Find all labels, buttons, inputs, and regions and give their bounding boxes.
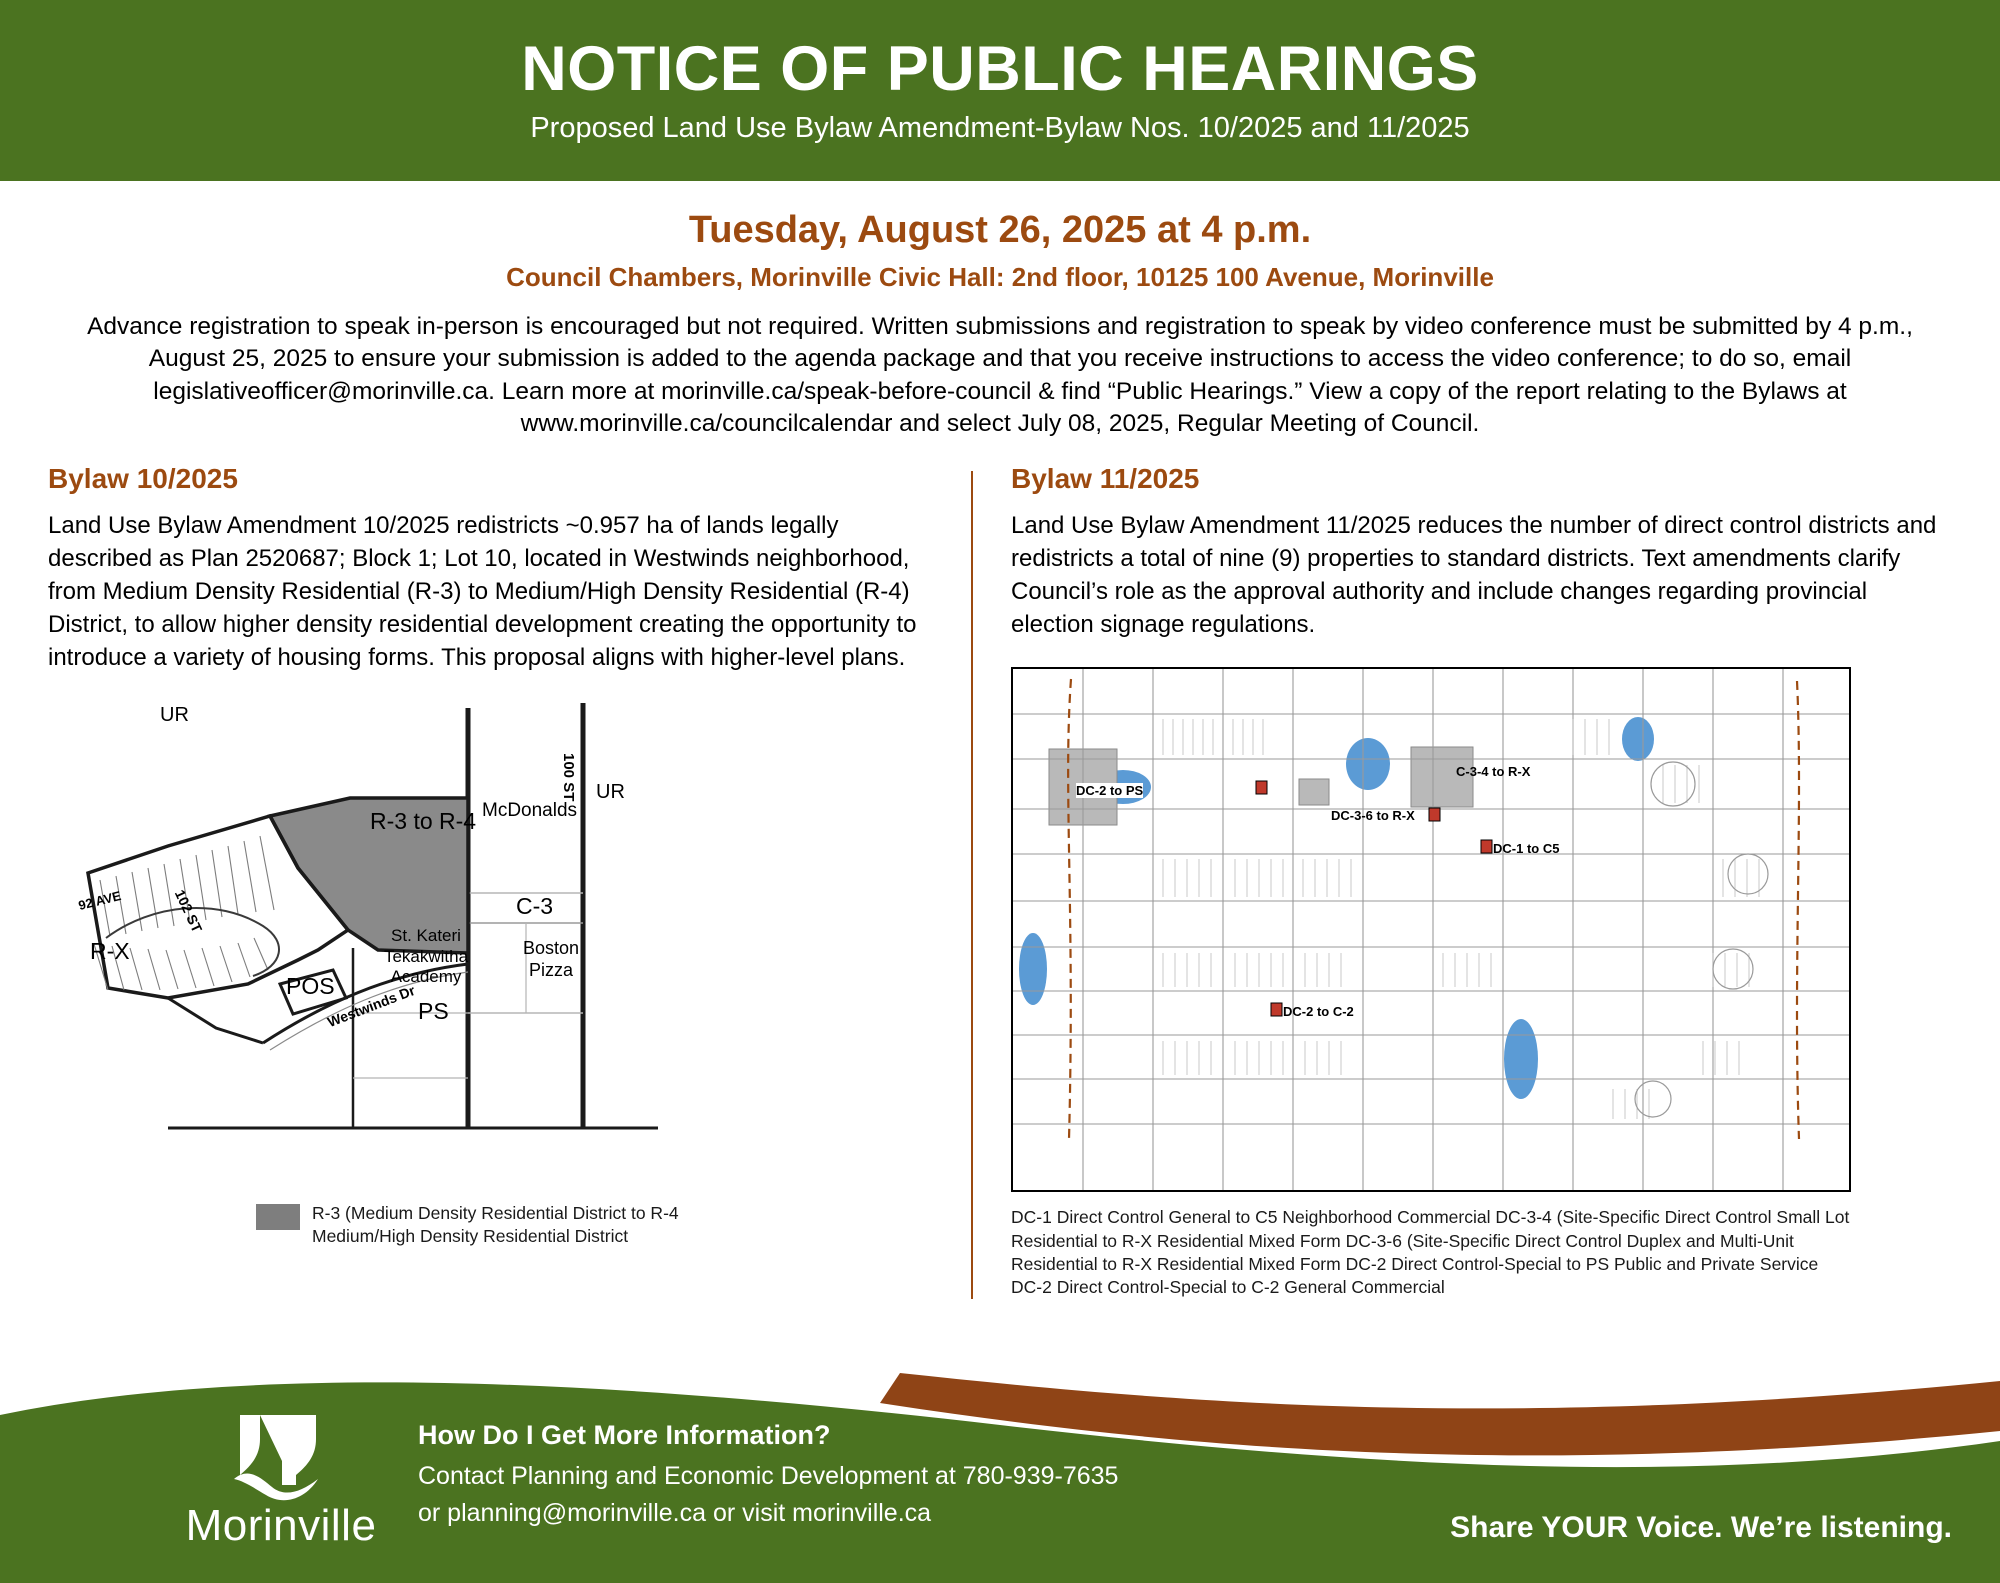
page-title: NOTICE OF PUBLIC HEARINGS: [521, 36, 1479, 102]
map-label-dc36-to-rx: DC-3-6 to R-X: [1331, 808, 1415, 823]
bylaw-11-map: DC-2 to PS C-3-4 to R-X DC-3-6 to R-X DC…: [1011, 667, 1851, 1192]
map-label-boston-pizza: BostonPizza: [516, 938, 586, 981]
meeting-instructions: Advance registration to speak in-person …: [48, 311, 1953, 441]
bylaw-10-map-svg: [48, 698, 928, 1198]
page-footer: Morinville How Do I Get More Information…: [0, 1373, 2000, 1583]
bylaw-10-map: UR UR R-3 to R-4 McDonalds C-3 BostonPiz…: [48, 698, 928, 1198]
bylaw-11-text: Land Use Bylaw Amendment 11/2025 reduces…: [1011, 509, 1956, 641]
morinville-logo-mark: [226, 1409, 336, 1505]
map-label-dc1-to-c5: DC-1 to C5: [1493, 841, 1559, 856]
map-label-subject: R-3 to R-4: [370, 808, 476, 835]
map-label-mcdonalds: McDonalds: [482, 800, 577, 822]
map-label-ur-right: UR: [596, 781, 625, 804]
map-label-ur-top: UR: [160, 704, 189, 727]
bylaw-10-legend: R-3 (Medium Density Residential District…: [256, 1202, 935, 1247]
bylaw-10-text: Land Use Bylaw Amendment 10/2025 redistr…: [48, 509, 935, 675]
column-divider: [971, 471, 973, 1300]
page-header: NOTICE OF PUBLIC HEARINGS Proposed Land …: [0, 0, 2000, 181]
bylaw-11-map-svg: [1013, 669, 1849, 1190]
map-label-100-st: 100 ST: [560, 753, 577, 801]
footer-contact-line-2: or planning@morinville.ca or visit morin…: [418, 1499, 1118, 1528]
morinville-logo-text: Morinville: [186, 1501, 377, 1551]
legend-label: R-3 (Medium Density Residential District…: [312, 1202, 782, 1247]
map-label-dc34-to-rx: C-3-4 to R-X: [1456, 764, 1530, 779]
map-label-ps: PS: [418, 998, 449, 1025]
meeting-location: Council Chambers, Morinville Civic Hall:…: [0, 263, 2000, 293]
page-subtitle: Proposed Land Use Bylaw Amendment-Bylaw …: [530, 113, 1469, 145]
meeting-date: Tuesday, August 26, 2025 at 4 p.m.: [0, 209, 2000, 253]
meeting-info: Tuesday, August 26, 2025 at 4 p.m. Counc…: [0, 181, 2000, 441]
bylaw-11-title: Bylaw 11/2025: [1011, 463, 1956, 495]
bylaw-10-column: Bylaw 10/2025 Land Use Bylaw Amendment 1…: [48, 463, 953, 1300]
bylaw-columns: Bylaw 10/2025 Land Use Bylaw Amendment 1…: [0, 463, 2000, 1300]
legend-swatch: [256, 1204, 300, 1230]
map-label-dc2-to-ps: DC-2 to PS: [1076, 783, 1143, 798]
bylaw-11-map-caption: DC-1 Direct Control General to C5 Neighb…: [1011, 1206, 1851, 1299]
map-label-c3: C-3: [516, 893, 553, 920]
bylaw-11-column: Bylaw 11/2025 Land Use Bylaw Amendment 1…: [1011, 463, 1956, 1300]
map-label-rx: R-X: [90, 938, 130, 965]
bylaw-10-title: Bylaw 10/2025: [48, 463, 935, 495]
bylaw-11-map-container: DC-2 to PS C-3-4 to R-X DC-3-6 to R-X DC…: [1011, 667, 1956, 1299]
morinville-logo: Morinville: [196, 1409, 366, 1551]
footer-tagline: Share YOUR Voice. We’re listening.: [1450, 1511, 1952, 1545]
map-label-school: St. KateriTekakwithaAcademy: [371, 926, 481, 987]
bylaw-10-map-container: UR UR R-3 to R-4 McDonalds C-3 BostonPiz…: [48, 698, 935, 1247]
map-label-dc2-to-c2: DC-2 to C-2: [1283, 1004, 1354, 1019]
footer-contact-line-1: Contact Planning and Economic Developmen…: [418, 1462, 1118, 1491]
footer-question: How Do I Get More Information?: [418, 1420, 1118, 1451]
map-label-pos: POS: [286, 973, 335, 1000]
footer-contact-block: How Do I Get More Information? Contact P…: [418, 1420, 1118, 1536]
